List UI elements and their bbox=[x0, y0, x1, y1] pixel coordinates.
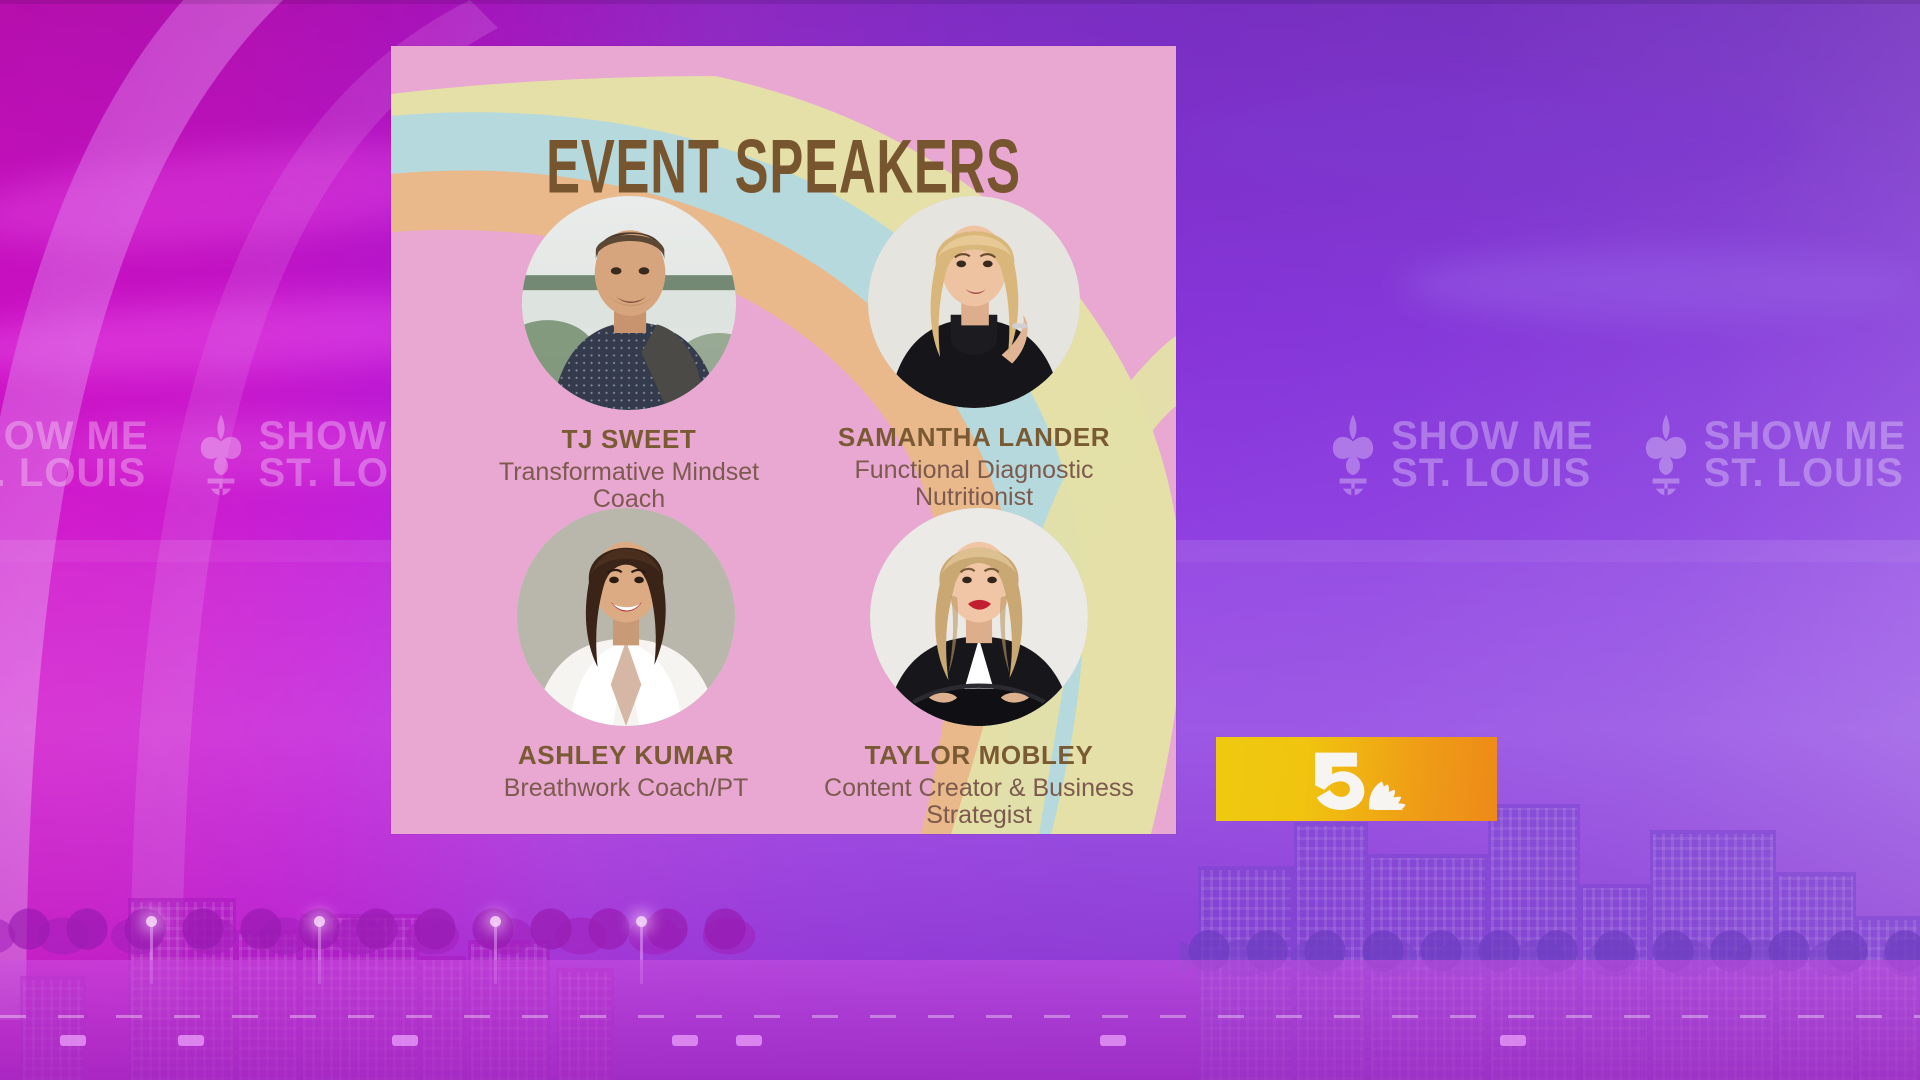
channel-5-nbc-logo bbox=[1298, 748, 1414, 810]
road-markings bbox=[0, 1015, 1920, 1018]
speaker-card-samantha-lander: SAMANTHA LANDER Functional Diagnostic Nu… bbox=[809, 196, 1139, 511]
headshot-samantha-lander bbox=[868, 196, 1080, 408]
nbc-peacock-icon bbox=[1369, 781, 1408, 810]
speaker-name: TJ SWEET bbox=[469, 424, 789, 455]
car bbox=[672, 1035, 698, 1046]
station-logo-bug bbox=[1216, 737, 1497, 821]
event-speakers-card: EVENT SPEAKERS bbox=[391, 46, 1176, 834]
foreground-road bbox=[0, 960, 1920, 1080]
top-edge bbox=[0, 0, 1920, 4]
speaker-name: SAMANTHA LANDER bbox=[809, 422, 1139, 453]
car bbox=[392, 1035, 418, 1046]
car bbox=[178, 1035, 204, 1046]
speaker-role: Breathwork Coach/PT bbox=[461, 775, 791, 802]
headshot-ashley-kumar bbox=[517, 508, 735, 726]
speaker-role: Content Creator & Business Strategist bbox=[809, 775, 1149, 829]
car bbox=[736, 1035, 762, 1046]
speaker-name: TAYLOR MOBLEY bbox=[809, 740, 1149, 771]
car bbox=[1500, 1035, 1526, 1046]
speaker-role: Functional Diagnostic Nutritionist bbox=[809, 457, 1139, 511]
headshot-taylor-mobley bbox=[870, 508, 1088, 726]
car bbox=[1100, 1035, 1126, 1046]
headshot-tj-sweet bbox=[522, 196, 736, 410]
speaker-name: ASHLEY KUMAR bbox=[461, 740, 791, 771]
speaker-card-ashley-kumar: ASHLEY KUMAR Breathwork Coach/PT bbox=[461, 508, 791, 802]
car bbox=[60, 1035, 86, 1046]
speaker-card-tj-sweet: TJ SWEET Transformative Mindset Coach bbox=[469, 196, 789, 513]
cloud-band bbox=[1180, 90, 1800, 190]
speaker-role: Transformative Mindset Coach bbox=[469, 459, 789, 513]
speaker-card-taylor-mobley: TAYLOR MOBLEY Content Creator & Business… bbox=[809, 508, 1149, 829]
cloud-band bbox=[1400, 250, 1920, 320]
